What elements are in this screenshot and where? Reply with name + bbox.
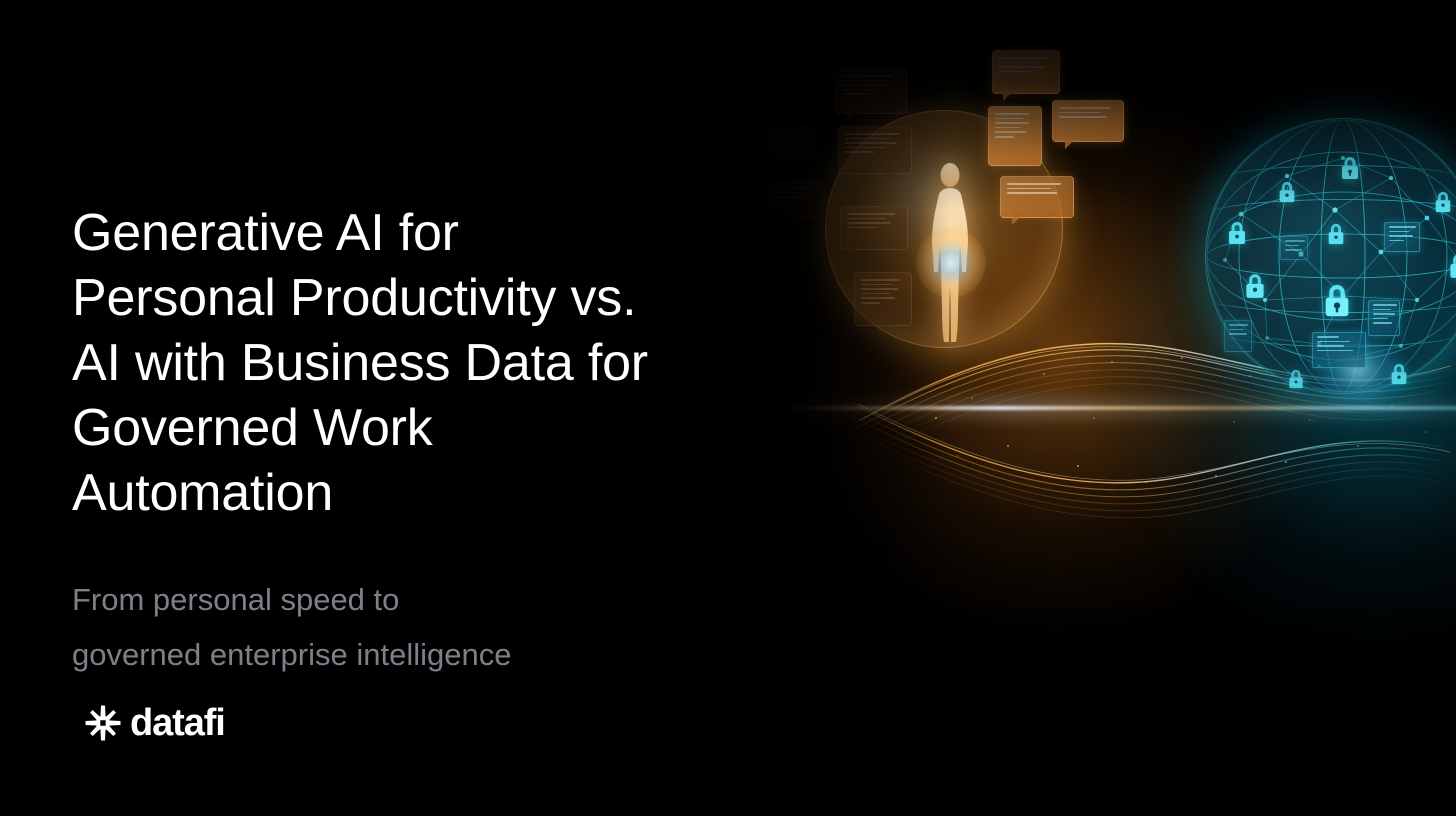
datafi-wordmark: datafi (130, 704, 225, 742)
data-panel (1368, 300, 1400, 336)
padlock-icon (1242, 272, 1268, 300)
page-title: Generative AI for Personal Productivity … (72, 201, 732, 526)
chat-bubble (835, 68, 907, 114)
padlock-icon (1276, 180, 1298, 204)
padlock-icon (1225, 220, 1249, 246)
padlock-icon (1338, 155, 1362, 181)
padlock-icon (1432, 190, 1454, 214)
page-subtitle: From personal speed to governed enterpri… (72, 572, 732, 682)
chat-bubble (992, 50, 1060, 94)
padlock-icon (1388, 362, 1410, 386)
padlock-icon (1325, 222, 1347, 246)
core-energy-glow (916, 228, 986, 298)
padlock-icon (1286, 368, 1306, 390)
datafi-logo: datafi (84, 704, 225, 742)
padlock-icon (1446, 252, 1456, 280)
document-bubble (854, 272, 912, 326)
chat-bubble (1000, 176, 1074, 218)
chat-bubble (762, 180, 822, 218)
data-panel (1384, 222, 1420, 252)
hero-artwork (720, 0, 1456, 816)
chat-bubble (760, 124, 814, 160)
chat-bubble (840, 206, 908, 250)
slide-canvas: Generative AI for Personal Productivity … (0, 0, 1456, 816)
data-panel (1312, 332, 1366, 368)
asterisk-star-icon (84, 704, 122, 742)
light-beam (760, 406, 1456, 410)
data-panel (1280, 236, 1308, 260)
data-panel (1224, 320, 1252, 352)
document-bubble (988, 106, 1042, 166)
chat-bubble (1052, 100, 1124, 142)
chat-bubble (838, 126, 912, 174)
padlock-icon (1320, 282, 1354, 319)
